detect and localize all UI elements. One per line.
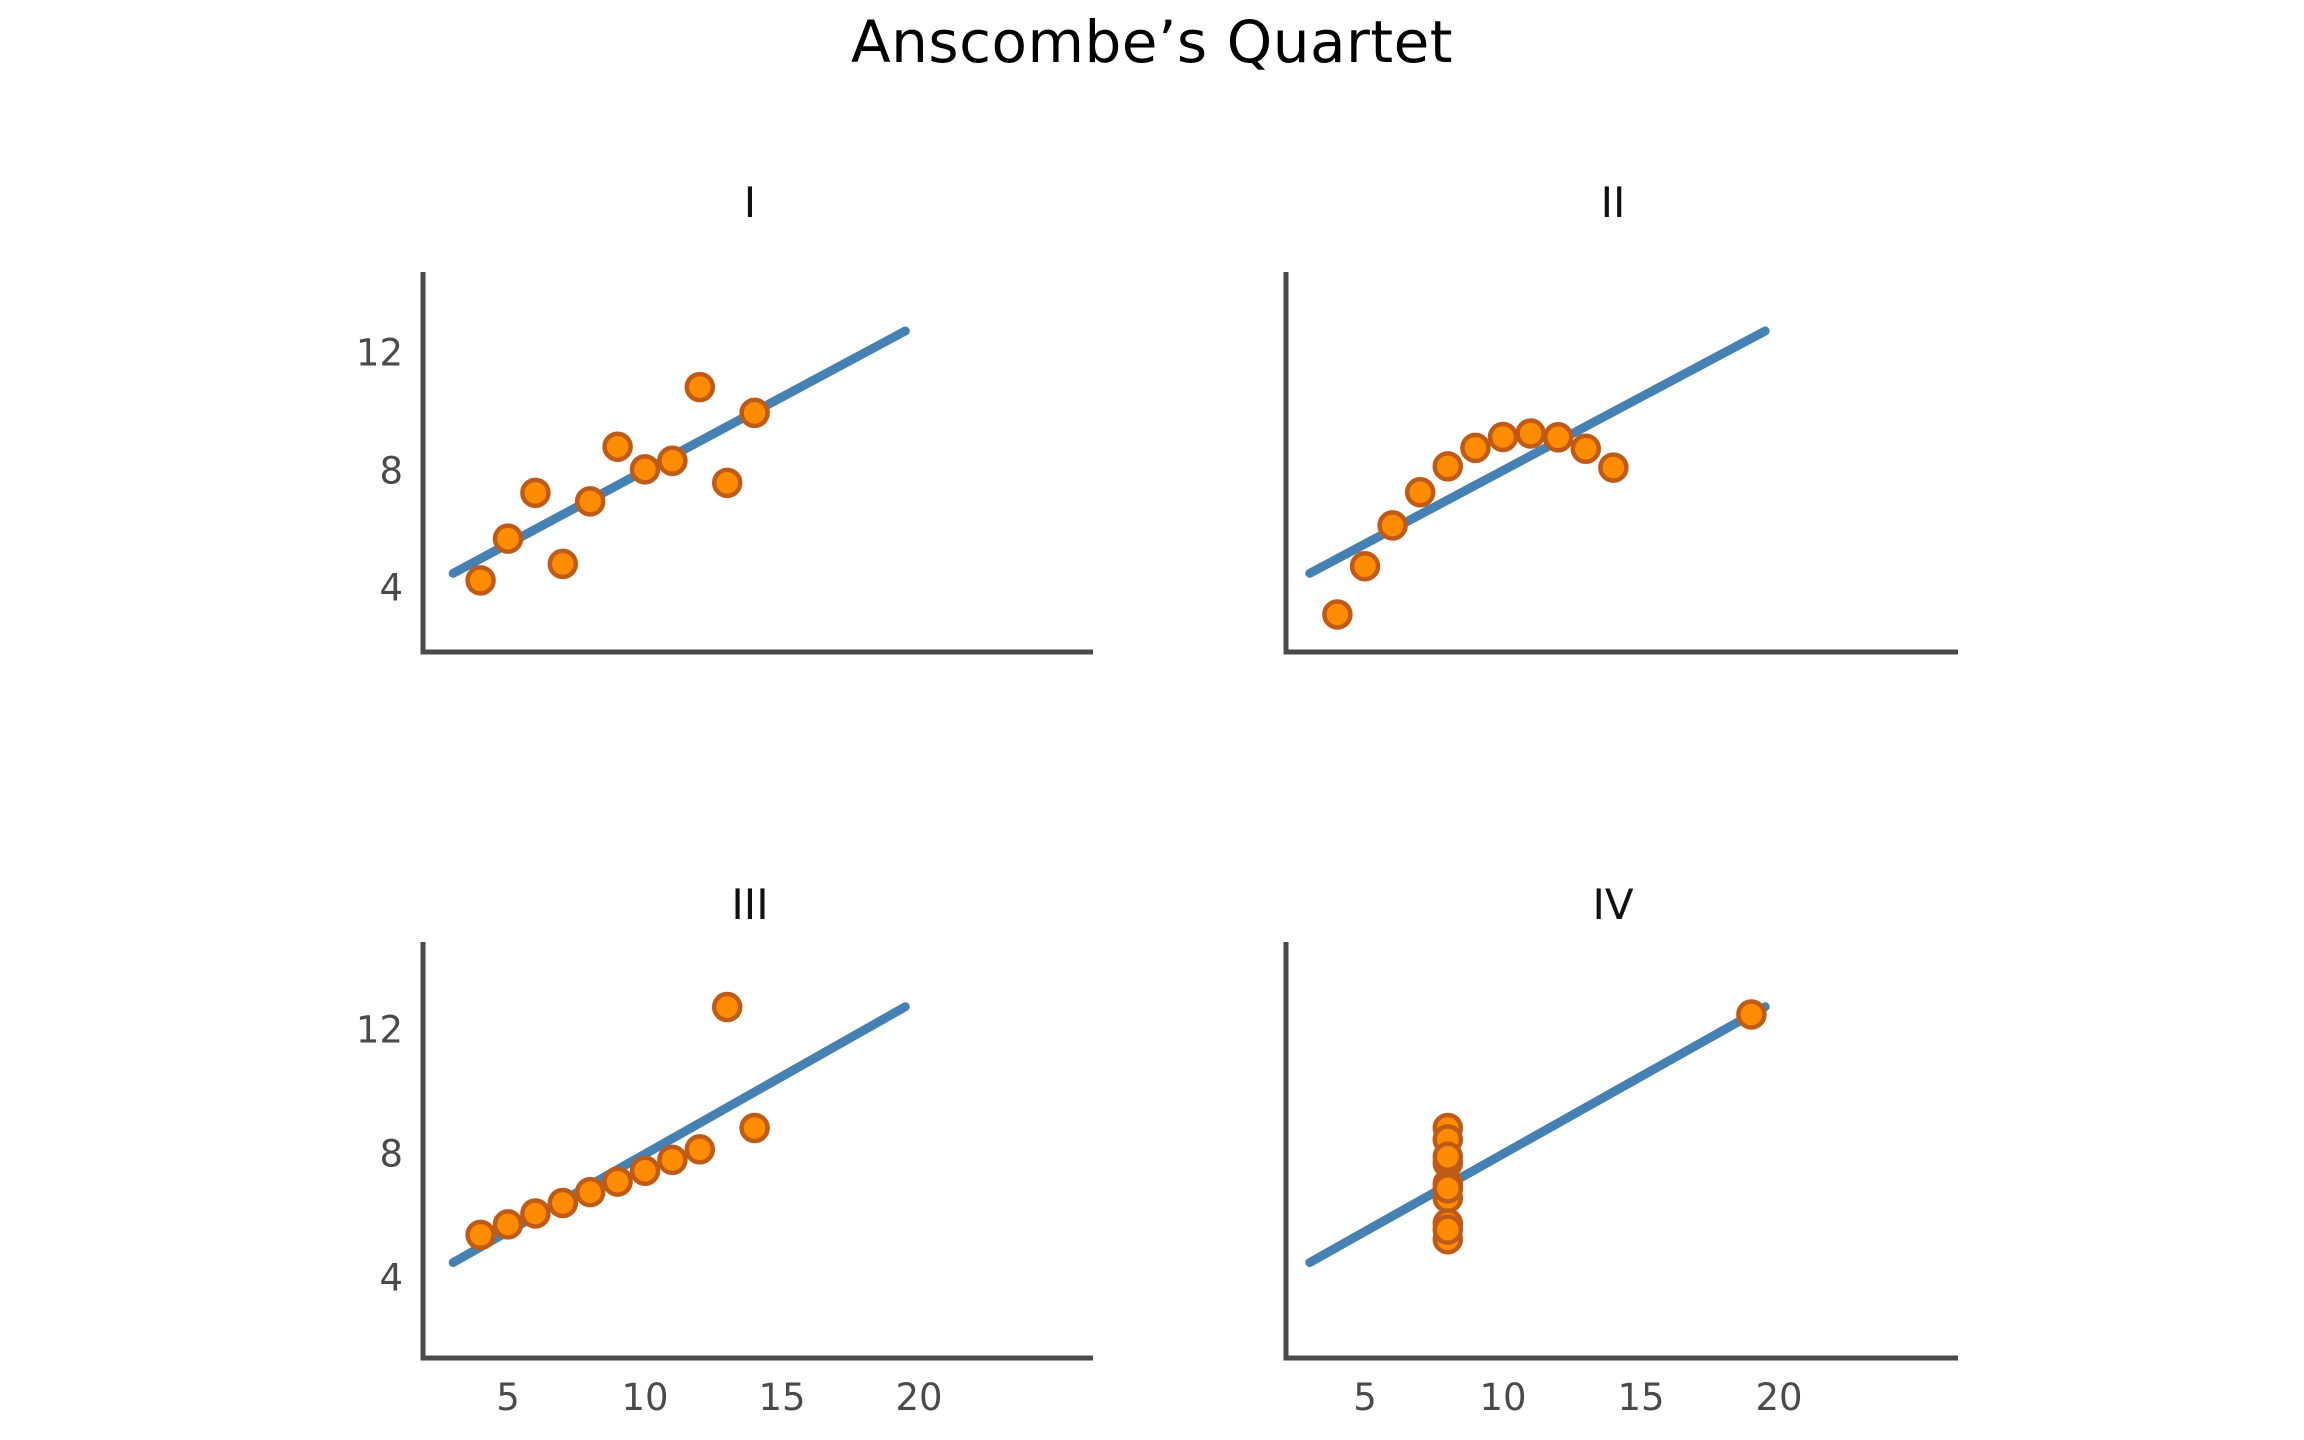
data-point: [659, 1147, 685, 1173]
data-point: [1407, 479, 1433, 505]
data-point: [1435, 1175, 1461, 1201]
data-point: [1462, 435, 1488, 461]
axis-spines: [423, 272, 1093, 652]
data-point: [714, 470, 740, 496]
data-point: [632, 1158, 658, 1184]
data-point: [605, 1169, 631, 1195]
regression-line: [1310, 1007, 1765, 1263]
y-tick-label: 4: [323, 567, 403, 610]
data-point: [495, 1211, 521, 1237]
y-tick-label: 4: [323, 1257, 403, 1300]
data-point: [1738, 1002, 1764, 1028]
y-tick-label: 12: [323, 332, 403, 375]
x-tick-label: 20: [895, 1376, 942, 1419]
x-tick-label: 5: [496, 1376, 520, 1419]
data-point: [577, 1179, 603, 1205]
data-point: [632, 456, 658, 482]
data-point: [1545, 424, 1571, 450]
plot-panel-II: [1150, 0, 2304, 720]
regression-line: [1310, 331, 1765, 573]
axis-spines: [423, 942, 1093, 1358]
data-point: [468, 1222, 494, 1248]
data-point: [714, 994, 740, 1020]
axis-spines: [1286, 942, 1958, 1358]
data-point: [1490, 424, 1516, 450]
plot-panel-III: [0, 720, 1150, 1440]
x-tick-label: 5: [1353, 1376, 1377, 1419]
data-point: [468, 567, 494, 593]
y-tick-label: 8: [323, 449, 403, 492]
data-point: [1518, 420, 1544, 446]
data-point: [687, 1136, 713, 1162]
data-point: [687, 374, 713, 400]
data-point: [1435, 1144, 1461, 1170]
data-point: [1352, 553, 1378, 579]
plot-panel-IV: [1150, 720, 2304, 1440]
x-tick-label: 15: [1617, 1376, 1664, 1419]
data-point: [522, 480, 548, 506]
data-point: [605, 434, 631, 460]
plot-panel-I: [0, 0, 1150, 720]
y-tick-label: 12: [323, 1009, 403, 1052]
data-point: [1380, 512, 1406, 538]
data-point: [742, 400, 768, 426]
data-point: [495, 526, 521, 552]
data-point: [1435, 1217, 1461, 1243]
data-point: [550, 1190, 576, 1216]
data-point: [550, 551, 576, 577]
data-point: [659, 448, 685, 474]
data-point: [1435, 453, 1461, 479]
x-tick-label: 10: [1479, 1376, 1526, 1419]
x-tick-label: 10: [621, 1376, 668, 1419]
data-point: [1600, 455, 1626, 481]
x-tick-label: 20: [1755, 1376, 1802, 1419]
data-point: [577, 488, 603, 514]
data-point: [742, 1115, 768, 1141]
data-point: [1573, 436, 1599, 462]
y-tick-label: 8: [323, 1133, 403, 1176]
x-tick-label: 15: [758, 1376, 805, 1419]
data-point: [1324, 601, 1350, 627]
figure-canvas: Anscombe’s Quartet I II III IV 128412845…: [0, 0, 2304, 1440]
data-point: [522, 1201, 548, 1227]
